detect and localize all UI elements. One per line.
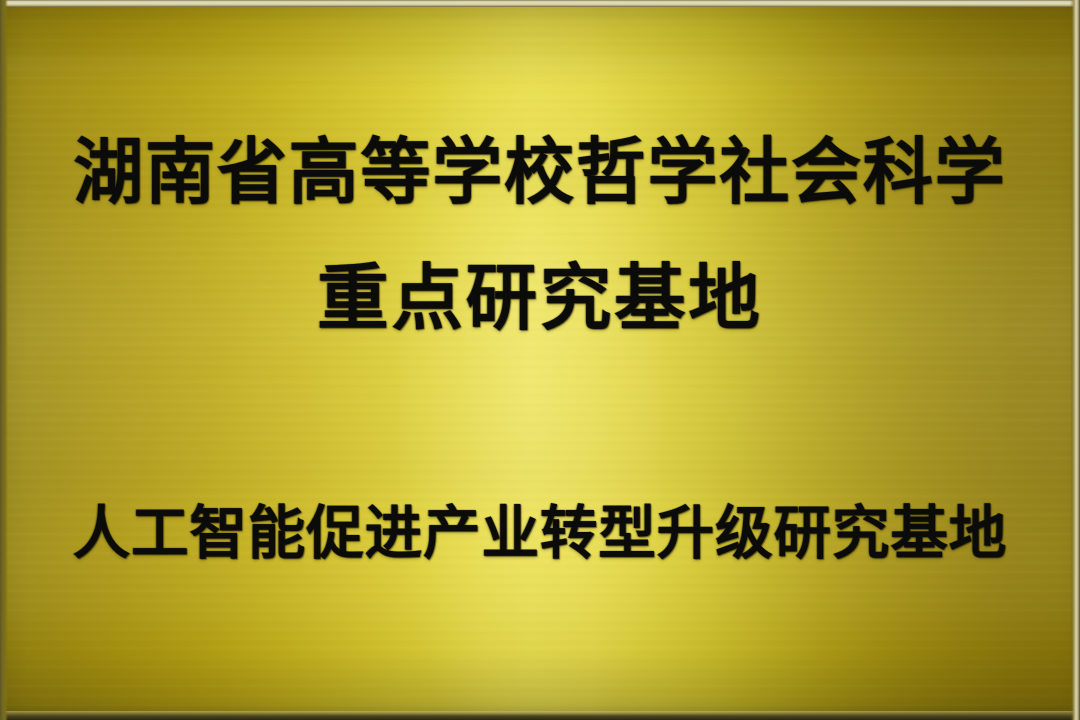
plaque-text-block: 湖南省高等学校哲学社会科学 重点研究基地 人工智能促进产业转型升级研究基地	[0, 0, 1080, 720]
plaque-subtitle-line: 人工智能促进产业转型升级研究基地	[5, 500, 1074, 566]
award-plaque: 湖南省高等学校哲学社会科学 重点研究基地 人工智能促进产业转型升级研究基地	[0, 0, 1080, 720]
plaque-title-line-1: 湖南省高等学校哲学社会科学	[16, 131, 1064, 213]
plaque-title-line-2: 重点研究基地	[5, 257, 1074, 339]
